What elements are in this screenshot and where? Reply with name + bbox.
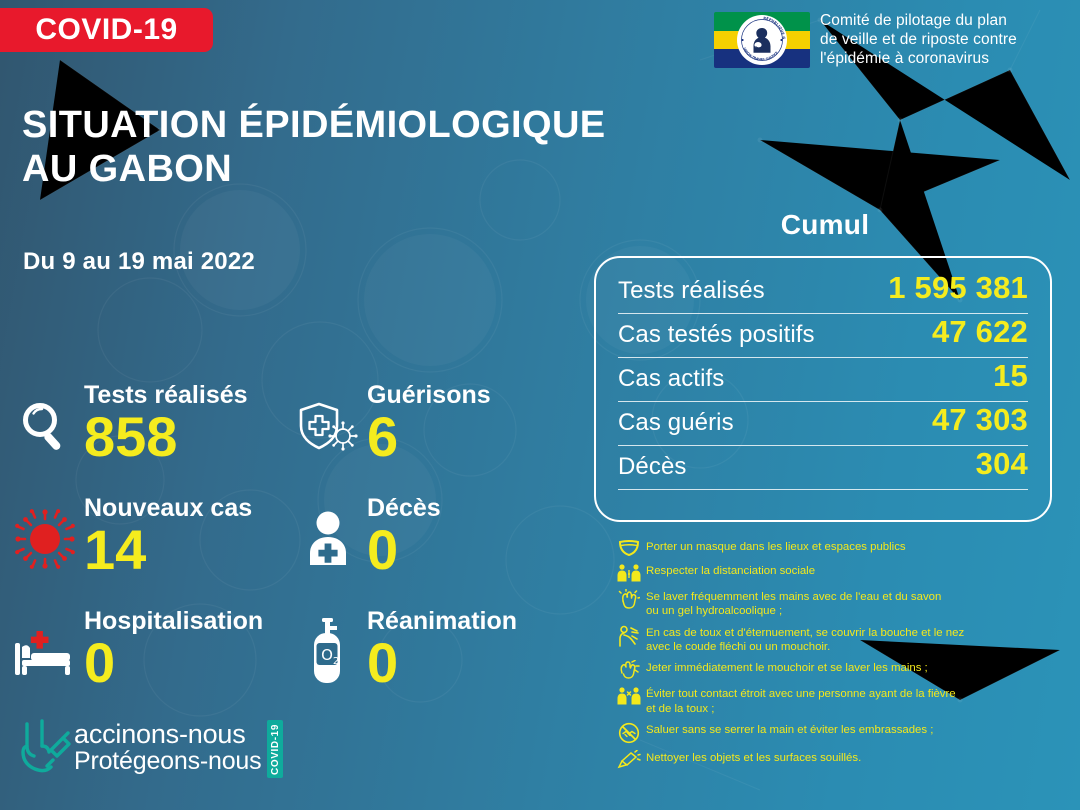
- stat-guerisons: Guérisons 6: [291, 352, 574, 465]
- list-item: Saluer sans se serrer la main et éviter …: [612, 721, 1070, 744]
- list-item: En cas de toux et d'éternuement, se couv…: [612, 624, 1070, 655]
- list-item: Jeter immédiatement le mouchoir et se la…: [612, 659, 1070, 680]
- distancing-icon: [612, 562, 646, 583]
- mask-icon: [612, 538, 646, 557]
- page-title-line-1: SITUATION ÉPIDÉMIOLOGIQUE: [22, 104, 606, 148]
- organization-name: Comité de pilotage du plan de veille et …: [820, 12, 1017, 69]
- prevention-tips-list: Porter un masque dans les lieux et espac…: [612, 538, 1070, 775]
- tip-text: Éviter tout contact étroit avec une pers…: [646, 685, 956, 716]
- organization-line-3: l'épidémie à coronavirus: [820, 50, 1017, 69]
- gabon-flag-icon: RÉPUBLIQUE GABONAISE UNION·TRAVAIL·JUSTI…: [714, 12, 810, 68]
- list-item: Se laver fréquemment les mains avec de l…: [612, 588, 1070, 619]
- infographic-poster: COVID-19 RÉPUBLIQUE GABONAISE: [0, 0, 1080, 810]
- tip-text: Saluer sans se serrer la main et éviter …: [646, 721, 933, 737]
- cumul-table: Tests réalisés 1 595 381 Cas testés posi…: [594, 256, 1052, 522]
- svg-text:O: O: [321, 646, 333, 664]
- stat-value: 0: [84, 636, 263, 691]
- cumul-row-label: Tests réalisés: [618, 277, 765, 305]
- vaccination-line-2: Protégeons-nous: [74, 748, 261, 775]
- clean-surface-icon: [612, 749, 646, 770]
- handwash-icon: [612, 588, 646, 611]
- avoid-contact-icon: [612, 685, 646, 706]
- svg-text:2: 2: [333, 656, 339, 667]
- tip-text: Jeter immédiatement le mouchoir et se la…: [646, 659, 928, 675]
- vaccination-logo-text: accinons-nous Protégeons-nous: [74, 720, 261, 775]
- no-handshake-icon: [612, 721, 646, 744]
- table-row: Cas testés positifs 47 622: [618, 314, 1028, 358]
- vaccination-covid-tag: COVID-19: [267, 720, 283, 778]
- tip-text: Respecter la distanciation sociale: [646, 562, 815, 578]
- vaccination-covid-tag-label: COVID-19: [270, 724, 281, 775]
- cumul-row-value: 304: [976, 446, 1028, 482]
- virus-icon: [8, 500, 82, 578]
- stat-reanimation: O 2 Réanimation 0: [291, 578, 574, 691]
- list-item: Porter un masque dans les lieux et espac…: [612, 538, 1070, 557]
- tip-text: Se laver fréquemment les mains avec de l…: [646, 588, 941, 619]
- stat-value: 6: [367, 410, 491, 465]
- list-item: Nettoyer les objets et les surfaces soui…: [612, 749, 1070, 770]
- hospital-bed-icon: [8, 613, 82, 691]
- vaccine-hand-v-icon: [18, 716, 76, 778]
- tip-text: Nettoyer les objets et les surfaces soui…: [646, 749, 861, 765]
- stat-tests-realises: Tests réalisés 858: [8, 352, 291, 465]
- table-row: Décès 304: [618, 446, 1028, 490]
- stat-deces: Décès 0: [291, 465, 574, 578]
- page-title-line-2: AU GABON: [22, 148, 606, 192]
- organization-line-2: de veille et de riposte contre: [820, 31, 1017, 50]
- tip-text: En cas de toux et d'éternuement, se couv…: [646, 624, 964, 655]
- list-item: Respecter la distanciation sociale: [612, 562, 1070, 583]
- table-row: Cas actifs 15: [618, 358, 1028, 402]
- period-stats-grid: Tests réalisés 858: [8, 352, 574, 691]
- table-row: Tests réalisés 1 595 381: [618, 270, 1028, 314]
- oxygen-tank-icon: O 2: [291, 613, 365, 691]
- cumul-row-label: Cas actifs: [618, 365, 724, 393]
- vaccination-line-1: accinons-nous: [74, 720, 261, 748]
- cumul-row-label: Décès: [618, 453, 687, 481]
- stat-value: 0: [367, 636, 517, 691]
- date-range: Du 9 au 19 mai 2022: [23, 248, 255, 276]
- magnifier-icon: [8, 387, 82, 465]
- stat-value: 0: [367, 523, 441, 578]
- tissue-icon: [612, 659, 646, 680]
- list-item: Éviter tout contact étroit avec une pers…: [612, 685, 1070, 716]
- cumul-row-value: 15: [993, 358, 1028, 394]
- organization-header: RÉPUBLIQUE GABONAISE UNION·TRAVAIL·JUSTI…: [714, 12, 1017, 69]
- cumul-row-value: 47 303: [932, 402, 1028, 438]
- vaccination-logo: accinons-nous Protégeons-nous COVID-19: [18, 716, 283, 778]
- covid19-badge-label: COVID-19: [35, 13, 177, 47]
- stat-hospitalisation: Hospitalisation 0: [8, 578, 291, 691]
- cumul-row-label: Cas testés positifs: [618, 321, 815, 349]
- stat-nouveaux-cas: Nouveaux cas 14: [8, 465, 291, 578]
- doctor-icon: [291, 500, 365, 578]
- shield-plus-icon: [291, 387, 365, 465]
- covid19-badge: COVID-19: [0, 8, 213, 52]
- cough-elbow-icon: [612, 624, 646, 647]
- cumul-title: Cumul: [590, 209, 1060, 241]
- tip-text: Porter un masque dans les lieux et espac…: [646, 538, 906, 554]
- cumul-row-value: 1 595 381: [888, 270, 1028, 306]
- page-title: SITUATION ÉPIDÉMIOLOGIQUE AU GABON: [22, 104, 606, 191]
- organization-line-1: Comité de pilotage du plan: [820, 12, 1017, 31]
- stat-value: 14: [84, 523, 252, 578]
- table-row: Cas guéris 47 303: [618, 402, 1028, 446]
- stat-value: 858: [84, 410, 248, 465]
- gabon-seal-icon: RÉPUBLIQUE GABONAISE UNION·TRAVAIL·JUSTI…: [737, 15, 787, 65]
- cumul-row-label: Cas guéris: [618, 409, 734, 437]
- cumul-row-value: 47 622: [932, 314, 1028, 350]
